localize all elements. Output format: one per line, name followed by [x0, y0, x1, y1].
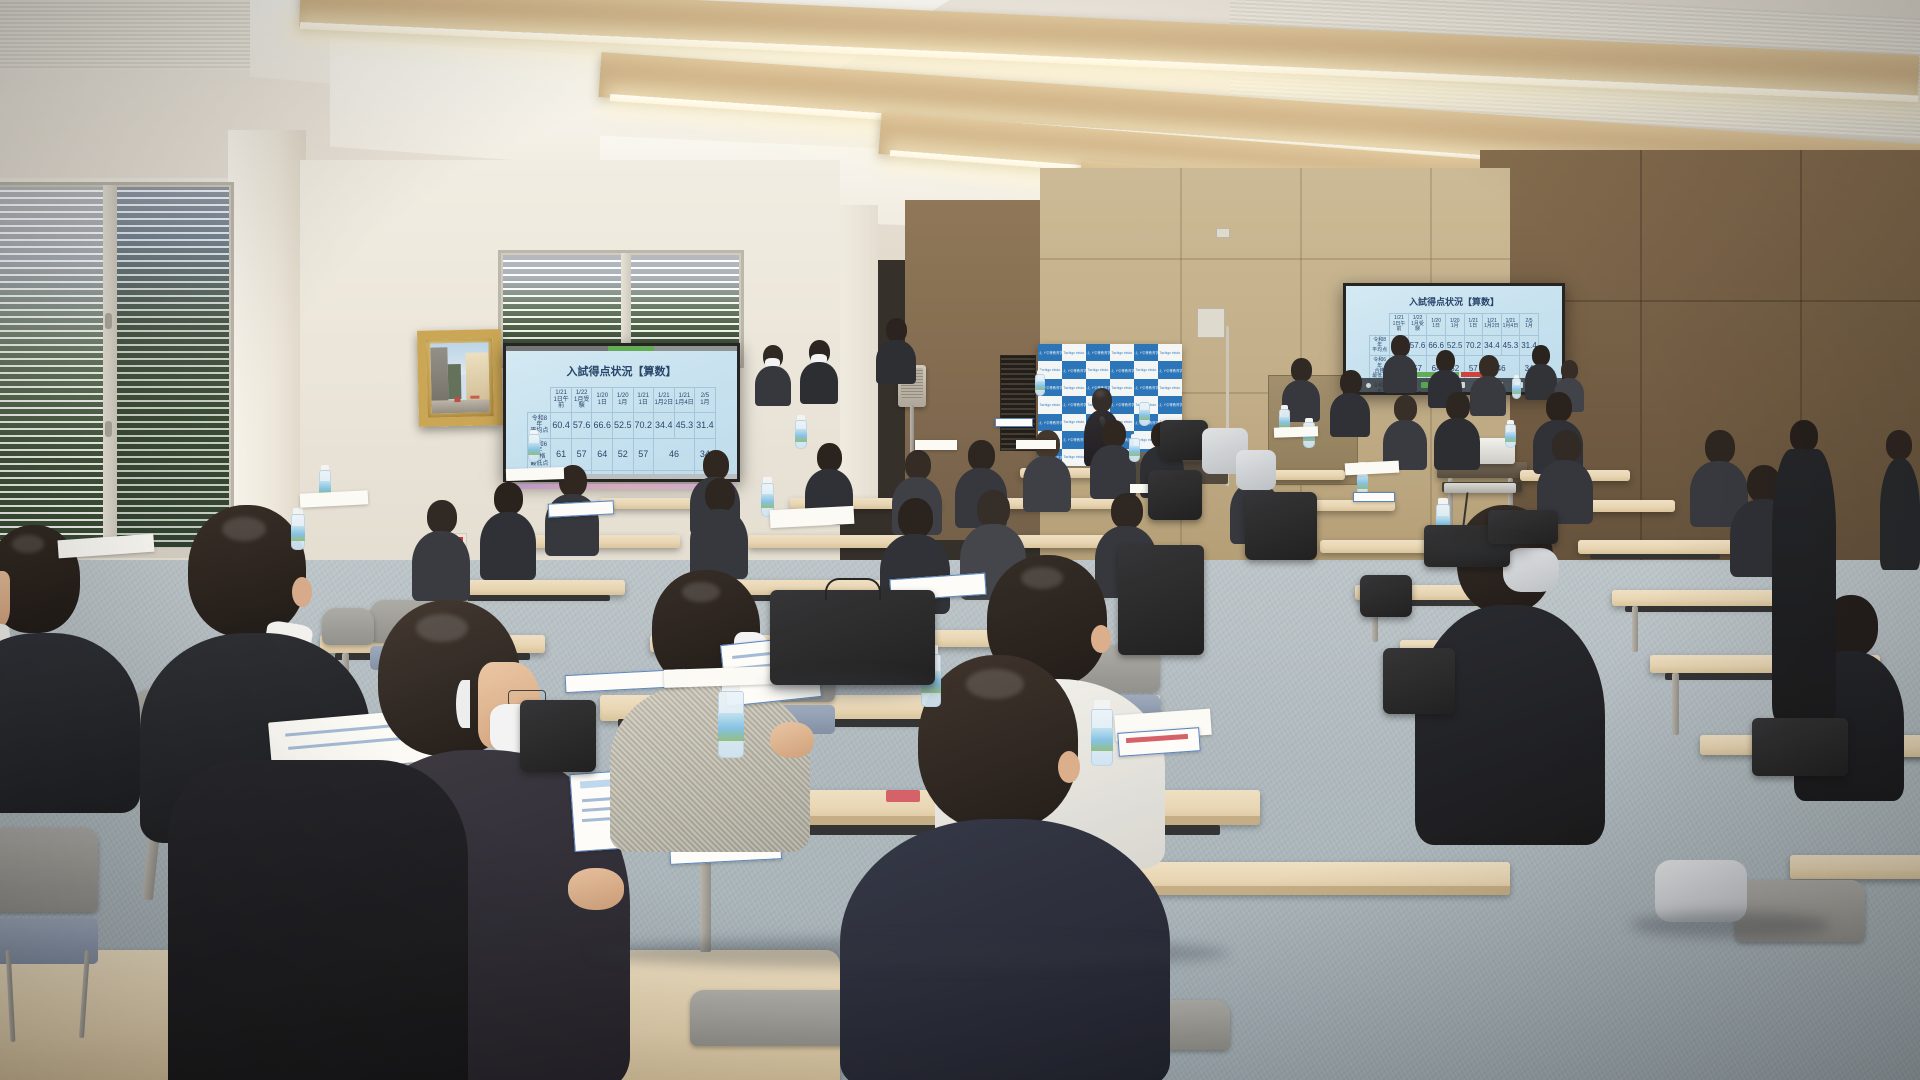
bottle-label — [761, 494, 775, 508]
slide-col-header-8: 2/51月 — [695, 388, 716, 413]
head — [1532, 345, 1550, 366]
person-back-right-9 — [1434, 392, 1480, 466]
slide-cell-r1-c6: 34.4 — [654, 412, 675, 438]
backdrop-cell-r3-c6: Tachigo ebuto — [1158, 379, 1182, 396]
head — [1552, 430, 1581, 463]
water-bottle-10[interactable] — [1035, 370, 1045, 396]
person-right-col-5 — [1880, 430, 1920, 570]
desk-papers-10[interactable] — [1274, 426, 1318, 438]
bottle-label — [291, 526, 306, 541]
backdrop-logo-text: Tachigo ebuto — [1160, 351, 1181, 355]
desk-papers-17[interactable] — [1353, 492, 1395, 502]
backdrop-cell-r4-c6: え.え.ド中等教育学校 — [1158, 396, 1182, 413]
slide-col-header-3: 1/201日 — [1427, 314, 1446, 336]
head — [968, 440, 995, 471]
hand-writing — [568, 868, 624, 910]
bottle-label — [1279, 417, 1289, 427]
torso — [755, 366, 791, 406]
backdrop-logo-text: え.え.ド中等教育学校 — [1038, 420, 1062, 425]
slide-col-header-6: 1/211月2日 — [1483, 314, 1502, 336]
backdrop-cell-r1-c1: え.え.ド中等教育学校 — [1038, 344, 1062, 361]
chair-seat — [0, 918, 98, 964]
slide-col-header-5: 1/211日 — [1464, 314, 1483, 336]
bag-right-col-1[interactable] — [1360, 575, 1412, 617]
head — [886, 318, 907, 342]
desk-papers-13[interactable] — [1016, 440, 1056, 449]
water-bottle-6[interactable] — [795, 415, 807, 449]
person-standing-right — [1772, 420, 1836, 730]
desk-papers-12[interactable] — [915, 440, 957, 450]
presentation-laptop[interactable] — [1444, 483, 1516, 493]
bag-left-floor[interactable] — [520, 700, 596, 772]
bag-mid-3[interactable] — [1160, 420, 1208, 460]
slide-cell-r1-c7: 45.3 — [674, 412, 695, 438]
hair-highlight — [966, 669, 1024, 699]
head — [1446, 392, 1470, 420]
backdrop-logo-text: え.え.ド中等教育学校 — [1038, 350, 1062, 355]
person-foreground-far-left — [0, 525, 150, 795]
water-bottle-17[interactable] — [1512, 375, 1521, 399]
bag-right-col-3[interactable] — [1383, 648, 1455, 714]
window-handle-lower[interactable] — [105, 421, 112, 437]
head — [705, 478, 735, 512]
bottle-label — [1139, 410, 1149, 420]
head — [1394, 395, 1417, 422]
slide-table-corner — [1370, 314, 1390, 336]
person-staff-left — [755, 345, 791, 403]
person-mid-11 — [412, 500, 470, 596]
person-back-right-7 — [1330, 370, 1370, 432]
slide-cell-r2-c6: 46 — [654, 438, 695, 470]
torso — [412, 531, 470, 601]
head — [1886, 430, 1912, 460]
torso — [1330, 393, 1370, 437]
torso — [800, 362, 838, 404]
torso — [1023, 456, 1071, 512]
mask-ear-strap — [456, 680, 470, 728]
head — [1291, 358, 1312, 382]
wall-back-seam-h1 — [1040, 258, 1510, 260]
slide-cell-r1-c6: 34.4 — [1483, 335, 1502, 356]
shadow-cart — [1432, 540, 1532, 558]
head — [1561, 360, 1578, 380]
torso — [1880, 458, 1920, 570]
backdrop-logo-text: え.え.ド中等教育学校 — [1134, 350, 1158, 355]
bottle-label — [1357, 476, 1369, 488]
slide-col-header-3: 1/201日 — [592, 388, 613, 413]
torso — [876, 340, 916, 384]
backdrop-cell-r2-c3: Tachigo ebuto — [1086, 361, 1110, 378]
slide-cell-r1-c1: 60.4 — [551, 412, 572, 438]
ear — [1091, 625, 1111, 653]
head — [905, 450, 931, 480]
head — [1790, 420, 1818, 452]
slide-left-title: 入試得点状況【算数】 — [567, 363, 677, 379]
wall-wood-seam-1 — [1640, 150, 1642, 580]
ear — [1058, 751, 1080, 783]
painting-building-left — [430, 347, 449, 408]
person-staff-right — [876, 318, 916, 380]
backdrop-cell-r1-c3: え.え.ド中等教育学校 — [1086, 344, 1110, 361]
bag-handle-center[interactable] — [825, 578, 881, 600]
head — [898, 498, 933, 538]
window-pane-left-1 — [0, 187, 103, 549]
water-bottle-1[interactable] — [717, 680, 745, 758]
backdrop-logo-text: え.え.ド中等教育学校 — [1062, 368, 1086, 373]
backdrop-logo-text: え.え.ド中等教育学校 — [1086, 350, 1110, 355]
backdrop-logo-text: え.え.ド中等教育学校 — [1158, 403, 1182, 408]
shadow-right-col — [1630, 912, 1830, 938]
backdrop-cell-r2-c4: え.え.ド中等教育学校 — [1110, 361, 1134, 378]
hair-highlight — [682, 582, 720, 602]
head — [1102, 420, 1126, 448]
shadow-bag-center — [766, 674, 942, 698]
backdrop-cell-r3-c5: え.え.ド中等教育学校 — [1134, 379, 1158, 396]
window-handle-upper[interactable] — [105, 313, 112, 329]
desk-apron-fr-3 — [1590, 554, 1720, 559]
slide-cell-r1-c7: 45.3 — [1501, 335, 1520, 356]
slide-col-header-8: 2/51月 — [1520, 314, 1539, 336]
backdrop-cell-r2-c2: え.え.ド中等教育学校 — [1062, 361, 1086, 378]
slide-cell-r1-c5: 70.2 — [633, 412, 654, 438]
ear — [292, 577, 312, 607]
seminar-room-photo: Fire Extinguisher 消火器 ▲▲▲ え.え.ド中等教育学校Tac… — [0, 0, 1920, 1080]
slide-cell-r1-c3: 66.6 — [592, 412, 613, 438]
backdrop-logo-text: Tachigo ebuto — [1160, 386, 1181, 390]
backdrop-cell-r2-c6: え.え.ド中等教育学校 — [1158, 361, 1182, 378]
bottle-label — [1505, 432, 1515, 442]
slide-right-title: 入試得点状況【算数】 — [1409, 295, 1499, 308]
backdrop-logo-text: え.え.ド中等教育学校 — [1134, 385, 1158, 390]
painting-street — [431, 400, 489, 414]
slide-left-present-seg — [506, 346, 608, 351]
torso — [1434, 418, 1480, 470]
slide-col-header-7: 1/211月4日 — [674, 388, 695, 413]
slide-cell-r2-c4: 52 — [612, 438, 633, 470]
bottle-label — [1129, 446, 1139, 456]
slide-col-header-7: 1/211月4日 — [1501, 314, 1520, 336]
painting-canvas — [430, 342, 489, 413]
slide-left-green-seg — [608, 346, 654, 351]
backdrop-logo-text: Tachigo ebuto — [1136, 368, 1157, 372]
torso — [690, 509, 748, 579]
backdrop-cell-r2-c5: Tachigo ebuto — [1134, 361, 1158, 378]
backdrop-cell-r1-c6: Tachigo ebuto — [1158, 344, 1182, 361]
framed-painting — [417, 329, 503, 427]
bottle-label — [1512, 385, 1520, 394]
painting-accent-2 — [471, 395, 479, 399]
window-mullion-left — [103, 185, 117, 551]
backdrop-logo-text: え.え.ド中等教育学校 — [1110, 368, 1134, 373]
bag-far-right-floor[interactable] — [1752, 718, 1848, 776]
bag-floor-right-2[interactable] — [1488, 510, 1558, 544]
desk-leg-fr-5 — [1672, 673, 1679, 735]
head — [1391, 335, 1410, 357]
slide-cell-r2-c5: 57 — [633, 438, 654, 470]
wall-electrical-plate-2 — [1216, 228, 1230, 238]
bottle-label — [1035, 381, 1044, 390]
backdrop-logo-text: Tachigo ebuto — [1112, 351, 1133, 355]
projector-ir-plate — [1197, 308, 1225, 338]
bag-foreground-right[interactable] — [1118, 545, 1204, 655]
head — [1436, 350, 1455, 372]
backdrop-cell-r1-c4: Tachigo ebuto — [1110, 344, 1134, 361]
desk-far-right-7 — [1790, 855, 1920, 879]
chair-back — [0, 828, 98, 912]
backdrop-cell-r5-c1: え.え.ド中等教育学校 — [1038, 414, 1062, 431]
head — [977, 490, 1010, 528]
person-mid-12 — [690, 478, 748, 574]
head — [1479, 355, 1499, 378]
hair-highlight — [416, 614, 468, 642]
slide-col-header-4: 1/201月 — [612, 388, 633, 413]
bottle-label — [528, 443, 539, 455]
slide-cell-r1-c2: 57.6 — [571, 412, 592, 438]
bag-mid-2[interactable] — [1245, 492, 1317, 560]
head — [427, 500, 457, 534]
torso — [168, 760, 468, 1080]
backdrop-cell-r1-c2: Tachigo ebuto — [1062, 344, 1086, 361]
desk-papers-3[interactable] — [506, 467, 564, 481]
head — [494, 482, 523, 515]
backdrop-logo-text: Tachigo ebuto — [1064, 351, 1085, 355]
water-bottle-9[interactable] — [528, 430, 540, 462]
backdrop-logo-text: Tachigo ebuto — [1040, 403, 1061, 407]
slide-cell-r1-c5: 70.2 — [1464, 335, 1483, 356]
desk-leg-fr-4 — [1632, 606, 1638, 652]
hair-highlight — [222, 517, 266, 541]
slide-col-header-1: 1/211日午前 — [1390, 314, 1409, 336]
water-bottle-18[interactable] — [1129, 434, 1140, 462]
slide-cell-r1-c4: 52.5 — [612, 412, 633, 438]
torso — [1415, 605, 1605, 845]
backdrop-cell-r1-c5: え.え.ド中等教育学校 — [1134, 344, 1158, 361]
head — [1111, 493, 1143, 529]
slide-col-header-2: 1/221月受験 — [571, 388, 592, 413]
bag-mid-1[interactable] — [1148, 470, 1202, 520]
painting-building-mid — [448, 364, 461, 399]
backdrop-cell-r4-c1: Tachigo ebuto — [1038, 396, 1062, 413]
hair-highlight — [12, 535, 44, 553]
desk-far-right-4 — [1612, 590, 1797, 606]
person-foreground-bottom-left — [168, 760, 468, 1080]
person-back-right-1 — [1383, 335, 1417, 389]
torso — [610, 682, 810, 852]
desk-papers-15[interactable] — [664, 666, 775, 688]
torso — [0, 633, 140, 813]
slide-cell-r1-c8: 31.4 — [695, 412, 716, 438]
head — [817, 443, 842, 472]
bag-foreground-center[interactable] — [770, 590, 935, 685]
head — [703, 450, 729, 480]
water-bottle-16[interactable] — [1505, 420, 1516, 448]
person-mid-10 — [480, 482, 536, 574]
bottle-label — [1091, 728, 1113, 752]
water-bottle-8[interactable] — [290, 508, 306, 550]
desk-papers-11[interactable] — [995, 418, 1033, 427]
slide-col-header-1: 1/211日午前 — [551, 388, 572, 413]
taskbar-icon-4[interactable] — [1421, 382, 1428, 388]
person-back-right-4 — [1525, 345, 1557, 397]
presenter-hair-highlight — [1095, 390, 1105, 397]
slide-col-header-2: 1/221月受験 — [1408, 314, 1427, 336]
backdrop-logo-text: Tachigo ebuto — [1088, 368, 1109, 372]
bottle-label — [718, 713, 744, 741]
slide-col-header-6: 1/211月2日 — [654, 388, 675, 413]
slide-col-header-5: 1/211日 — [633, 388, 654, 413]
backdrop-logo-text: え.え.ド中等教育学校 — [1158, 368, 1182, 373]
bag-light-2[interactable] — [1236, 450, 1276, 490]
window-assembly-left — [0, 182, 234, 550]
head — [1340, 370, 1362, 395]
torso — [480, 512, 536, 580]
slide-left-presentation-bar — [506, 346, 737, 351]
head — [1546, 392, 1572, 422]
water-bottle-4[interactable] — [1090, 700, 1114, 766]
slide-table-corner — [528, 388, 551, 413]
person-staff-mid — [800, 340, 838, 400]
torso — [1772, 449, 1836, 719]
window-pane-left-2 — [117, 187, 229, 549]
slide-col-header-4: 1/201月 — [1445, 314, 1464, 336]
person-back-right-8 — [1383, 395, 1427, 465]
slide-left-gray-seg — [654, 346, 737, 351]
painting-accent — [455, 397, 461, 402]
shadow-desk-near-center — [590, 938, 1230, 968]
hand-holding-handout — [770, 722, 814, 758]
bottle-label — [795, 429, 806, 441]
desk-apron-fr-4 — [1625, 606, 1783, 612]
water-bottle-11[interactable] — [1139, 398, 1150, 426]
head — [1705, 430, 1735, 464]
torso — [1383, 355, 1417, 393]
chair-near-left-empty[interactable] — [0, 828, 98, 964]
hair-highlight — [1021, 567, 1063, 589]
